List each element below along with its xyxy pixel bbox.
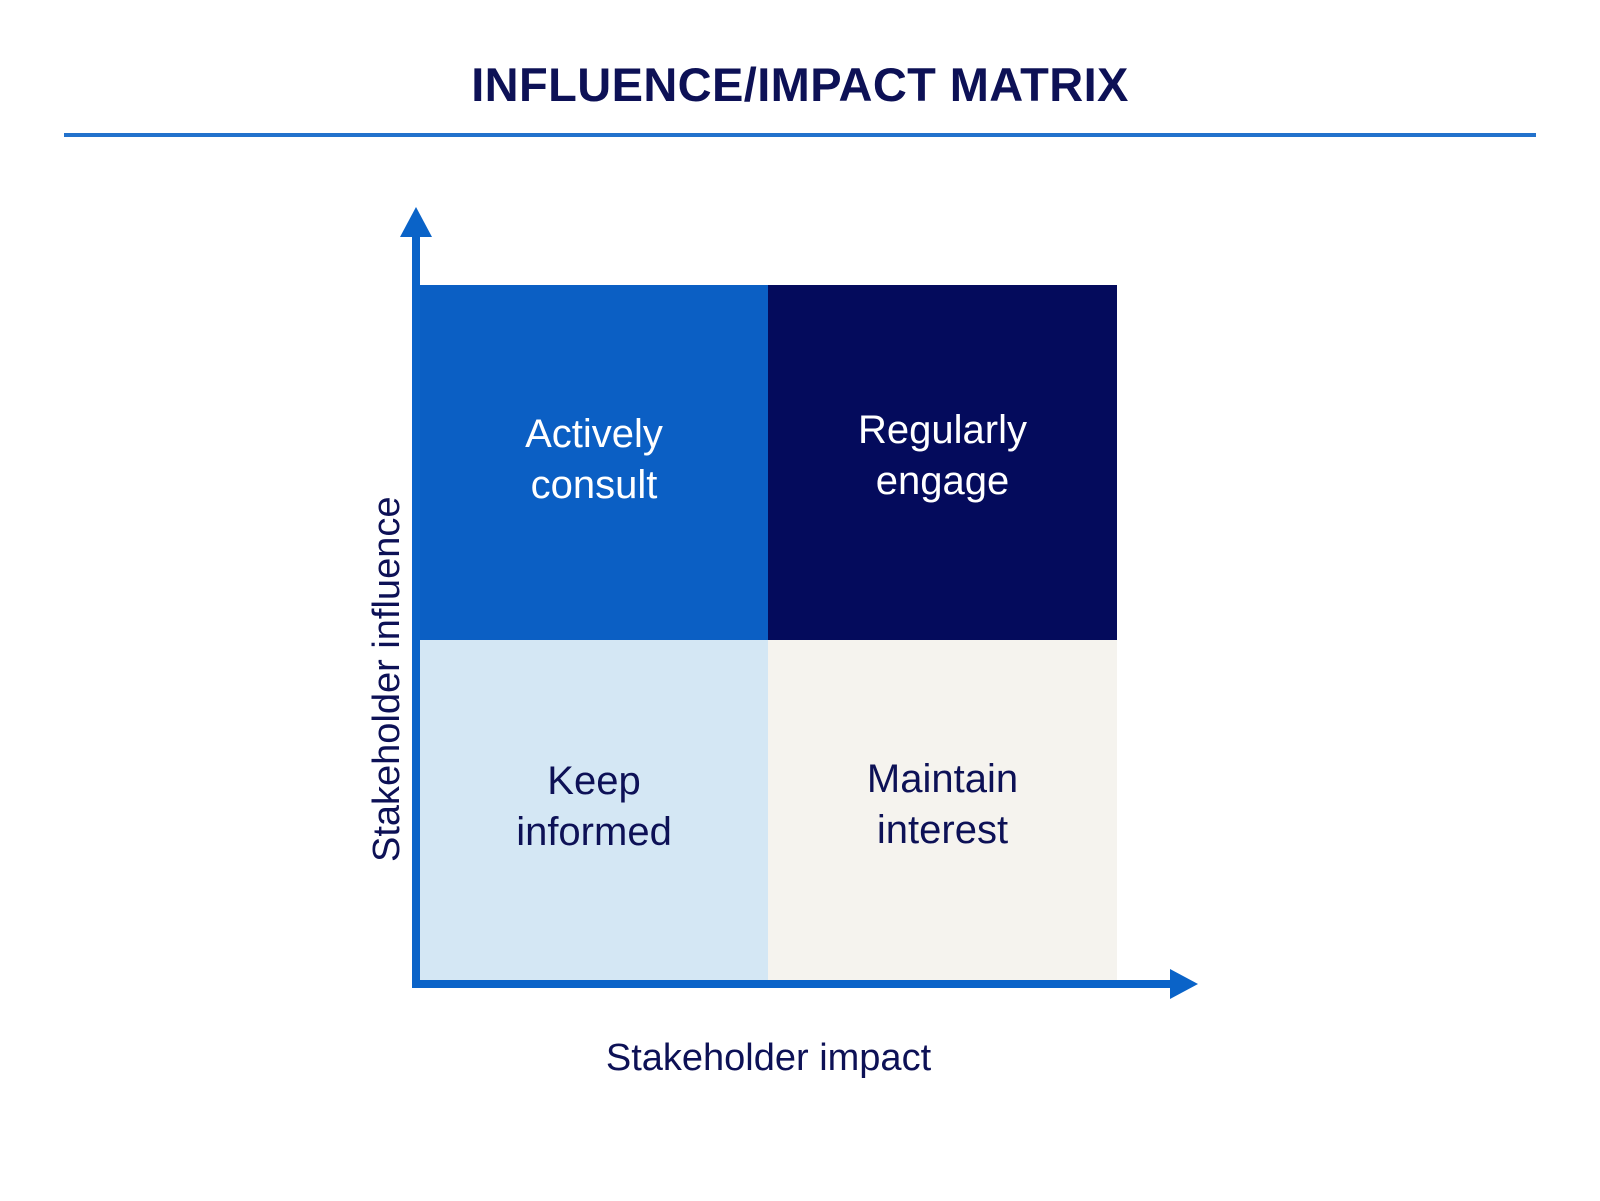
x-axis-line (412, 980, 1172, 988)
y-axis-label: Stakeholder influence (366, 302, 409, 862)
influence-impact-matrix: Actively consult Regularly engage Keep i… (0, 0, 1600, 1201)
arrow-right-icon (1170, 969, 1198, 999)
arrow-up-icon (400, 207, 432, 237)
y-axis-line (412, 232, 420, 986)
quadrant-regularly-engage[interactable]: Regularly engage (768, 285, 1117, 640)
quadrant-label: Regularly engage (858, 405, 1027, 507)
quadrant-grid: Actively consult Regularly engage Keep i… (420, 285, 1117, 980)
slide-canvas: INFLUENCE/IMPACT MATRIX Actively consult… (0, 0, 1600, 1201)
quadrant-maintain-interest[interactable]: Maintain interest (768, 640, 1117, 980)
quadrant-label: Maintain interest (867, 754, 1018, 856)
quadrant-actively-consult[interactable]: Actively consult (420, 285, 768, 640)
x-axis-label: Stakeholder impact (420, 1037, 1117, 1080)
quadrant-keep-informed[interactable]: Keep informed (420, 640, 768, 980)
quadrant-label: Keep informed (516, 756, 672, 858)
quadrant-label: Actively consult (525, 409, 663, 511)
